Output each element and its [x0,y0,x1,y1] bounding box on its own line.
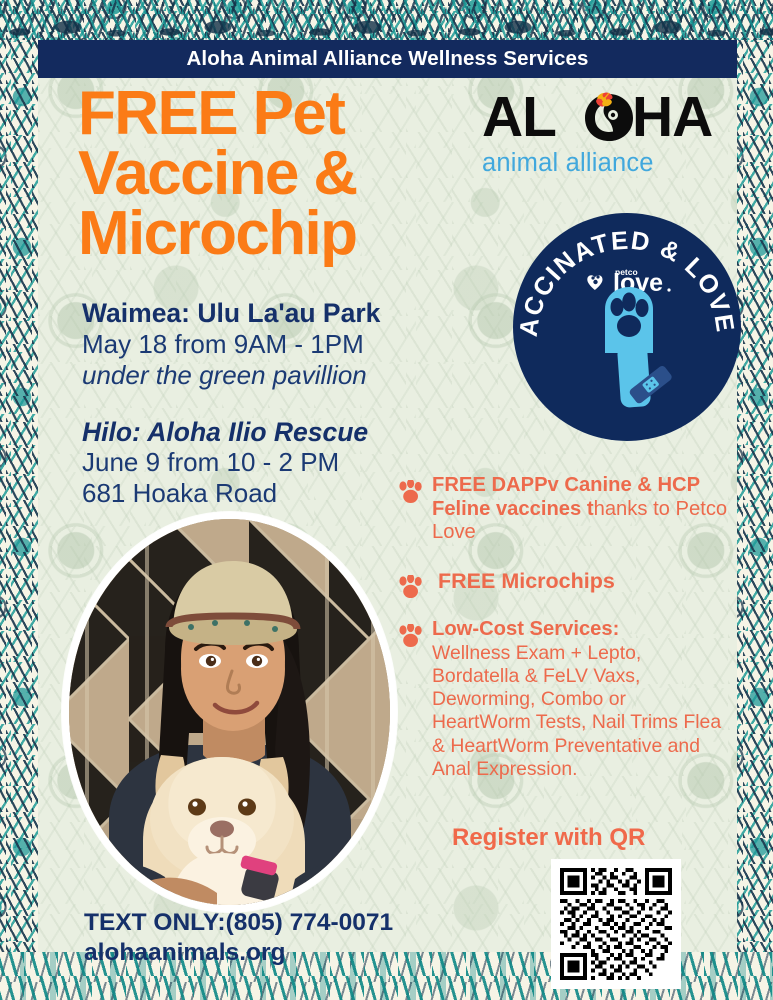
paw-icon [398,480,424,504]
dog-silhouette-hibiscus-icon [582,91,636,144]
headline-line-2: Vaccine & [78,144,357,204]
service-text: FREE DAPPv Canine & HCP Feline vaccines … [432,474,728,545]
headline: FREE Pet Vaccine & Microchip [78,84,357,264]
qr-code[interactable] [551,859,681,989]
header-title-bar: Aloha Animal Alliance Wellness Services [38,40,737,78]
service-item-free-vaccines: FREE DAPPv Canine & HCP Feline vaccines … [398,474,728,545]
event-waimea: Waimea: Ulu La'au Park May 18 from 9AM -… [82,298,482,391]
aloha-logo: AL HA ani [482,88,732,178]
event-name: Hilo: Aloha Ilio Rescue [82,417,482,448]
photo-image [69,519,390,905]
service-text: FREE Microchips [432,569,728,594]
photo-woman-with-dog [62,512,397,912]
event-name: Waimea: Ulu La'au Park [82,298,482,329]
page-title: Aloha Animal Alliance Wellness Services [187,47,589,71]
contact-phone: TEXT ONLY:(805) 774-0071 [84,908,393,938]
service-bold: FREE Microchips [438,569,615,593]
logo-text-left: AL [482,88,556,146]
event-note: under the green pavillion [82,360,482,391]
logo-text-right: HA [632,88,712,146]
border-top [0,0,773,40]
border-right [737,0,773,1000]
service-heading: Low-Cost Services: [432,618,728,642]
flyer-poster: Aloha Animal Alliance Wellness Services … [0,0,773,1000]
event-spacer [82,391,482,417]
service-item-low-cost: Low-Cost Services: Wellness Exam + Lepto… [398,618,728,781]
paw-icon [398,575,424,599]
logo-subtitle: animal alliance [482,149,732,178]
paw-icon [398,624,424,648]
contact-info: TEXT ONLY:(805) 774-0071 alohaanimals.or… [84,908,393,968]
contact-website[interactable]: alohaanimals.org [84,938,393,968]
headline-line-3: Microchip [78,204,357,264]
aloha-wordmark: AL HA [482,88,732,146]
event-date: May 18 from 9AM - 1PM [82,329,482,360]
register-label: Register with QR [452,824,645,852]
vaccinated-and-loved-badge: VACCINATED & LOVED petco love [513,213,741,441]
service-item-free-microchips: FREE Microchips [398,569,728,594]
services-list: FREE DAPPv Canine & HCP Feline vaccines … [398,474,728,798]
border-left [0,0,38,1000]
service-heading-text: Low-Cost Services: [432,618,619,640]
service-body: Wellness Exam + Lepto, Bordatella & FeLV… [432,642,728,782]
headline-line-1: FREE Pet [78,84,357,144]
